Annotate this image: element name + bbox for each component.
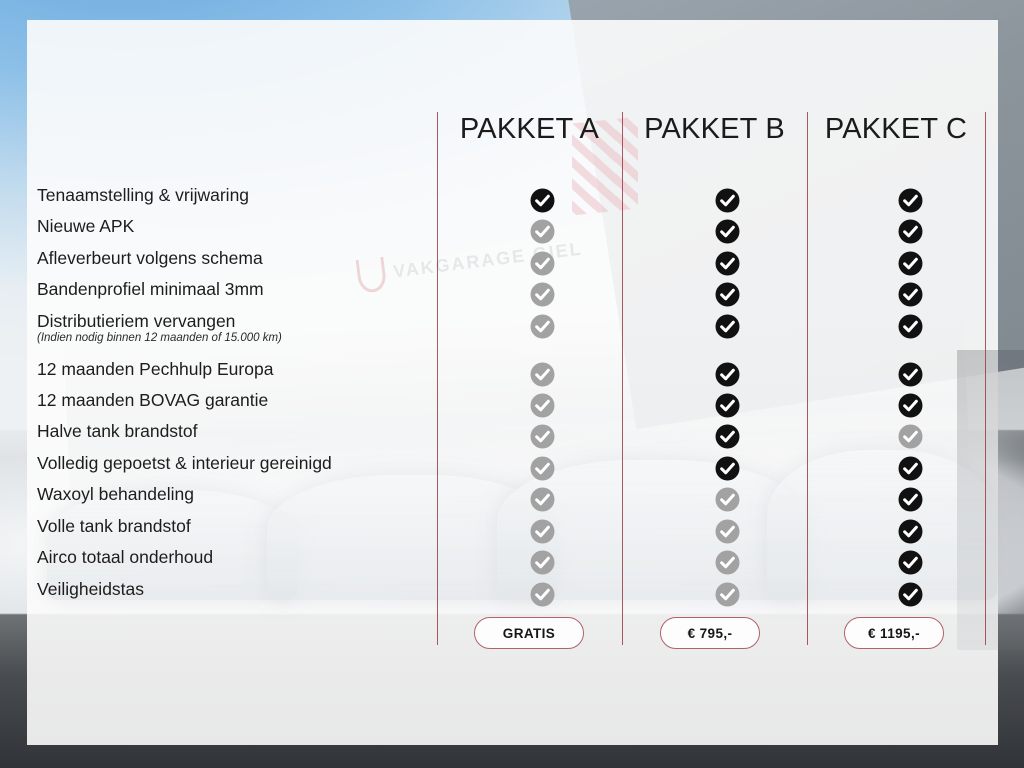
feature-note: (Indien nodig binnen 12 maanden of 15.00… bbox=[37, 332, 282, 344]
check-circle-filled-icon bbox=[898, 487, 923, 512]
check-circle-filled-icon bbox=[898, 456, 923, 481]
check-circle-disabled-icon bbox=[530, 487, 555, 512]
check-circle-filled-icon bbox=[715, 362, 740, 387]
feature-label: Nieuwe APK bbox=[37, 216, 134, 237]
check-circle-disabled-icon bbox=[530, 219, 555, 244]
check-circle-filled-icon bbox=[715, 188, 740, 213]
price-badge-package-b[interactable]: € 795,- bbox=[660, 617, 760, 649]
check-circle-disabled-icon bbox=[530, 424, 555, 449]
check-circle-disabled-icon bbox=[530, 282, 555, 307]
price-badge-package-a[interactable]: GRATIS bbox=[474, 617, 584, 649]
feature-label: Bandenprofiel minimaal 3mm bbox=[37, 279, 264, 300]
check-circle-disabled-icon bbox=[530, 582, 555, 607]
check-circle-disabled-icon bbox=[715, 487, 740, 512]
feature-label: Tenaamstelling & vrijwaring bbox=[37, 185, 249, 206]
pricing-panel: VAKGARAGE GIEL PAKKET A PAKKET B PAKKET … bbox=[27, 20, 998, 745]
feature-label: Volledig gepoetst & interieur gereinigd bbox=[37, 453, 332, 474]
check-circle-filled-icon bbox=[715, 282, 740, 307]
check-circle-disabled-icon bbox=[530, 519, 555, 544]
check-circle-filled-icon bbox=[530, 188, 555, 213]
check-circle-filled-icon bbox=[715, 251, 740, 276]
feature-label: 12 maanden Pechhulp Europa bbox=[37, 359, 273, 380]
package-comparison-table: PAKKET A PAKKET B PAKKET C Tenaamstellin… bbox=[27, 20, 998, 745]
feature-label: Volle tank brandstof bbox=[37, 516, 191, 537]
column-header-package-c: PAKKET C bbox=[807, 113, 985, 146]
column-divider-b-c bbox=[807, 112, 808, 645]
column-divider-left bbox=[437, 112, 438, 645]
check-circle-disabled-icon bbox=[715, 550, 740, 575]
check-circle-disabled-icon bbox=[530, 314, 555, 339]
check-circle-filled-icon bbox=[715, 393, 740, 418]
feature-label: Veiligheidstas bbox=[37, 579, 144, 600]
check-circle-filled-icon bbox=[715, 219, 740, 244]
column-divider-right bbox=[985, 112, 986, 645]
check-circle-disabled-icon bbox=[715, 519, 740, 544]
check-circle-disabled-icon bbox=[530, 550, 555, 575]
check-circle-disabled-icon bbox=[715, 582, 740, 607]
check-circle-disabled-icon bbox=[530, 362, 555, 387]
check-circle-filled-icon bbox=[898, 188, 923, 213]
check-circle-filled-icon bbox=[898, 393, 923, 418]
check-circle-disabled-icon bbox=[898, 424, 923, 449]
check-circle-filled-icon bbox=[898, 314, 923, 339]
feature-label: Waxoyl behandeling bbox=[37, 484, 194, 505]
check-circle-filled-icon bbox=[898, 362, 923, 387]
check-circle-disabled-icon bbox=[530, 393, 555, 418]
feature-label: Distributieriem vervangen bbox=[37, 311, 235, 332]
check-circle-filled-icon bbox=[898, 582, 923, 607]
check-circle-filled-icon bbox=[898, 219, 923, 244]
column-header-package-b: PAKKET B bbox=[622, 113, 807, 146]
column-divider-a-b bbox=[622, 112, 623, 645]
feature-label: Halve tank brandstof bbox=[37, 421, 198, 442]
check-circle-filled-icon bbox=[898, 282, 923, 307]
check-circle-filled-icon bbox=[715, 424, 740, 449]
column-header-package-a: PAKKET A bbox=[437, 113, 622, 146]
feature-label: Airco totaal onderhoud bbox=[37, 547, 213, 568]
check-circle-filled-icon bbox=[715, 456, 740, 481]
price-badge-package-c[interactable]: € 1195,- bbox=[844, 617, 944, 649]
check-circle-filled-icon bbox=[898, 251, 923, 276]
check-circle-filled-icon bbox=[898, 519, 923, 544]
feature-label: Afleverbeurt volgens schema bbox=[37, 248, 263, 269]
check-circle-filled-icon bbox=[715, 314, 740, 339]
check-circle-disabled-icon bbox=[530, 251, 555, 276]
feature-label: 12 maanden BOVAG garantie bbox=[37, 390, 268, 411]
check-circle-disabled-icon bbox=[530, 456, 555, 481]
check-circle-filled-icon bbox=[898, 550, 923, 575]
